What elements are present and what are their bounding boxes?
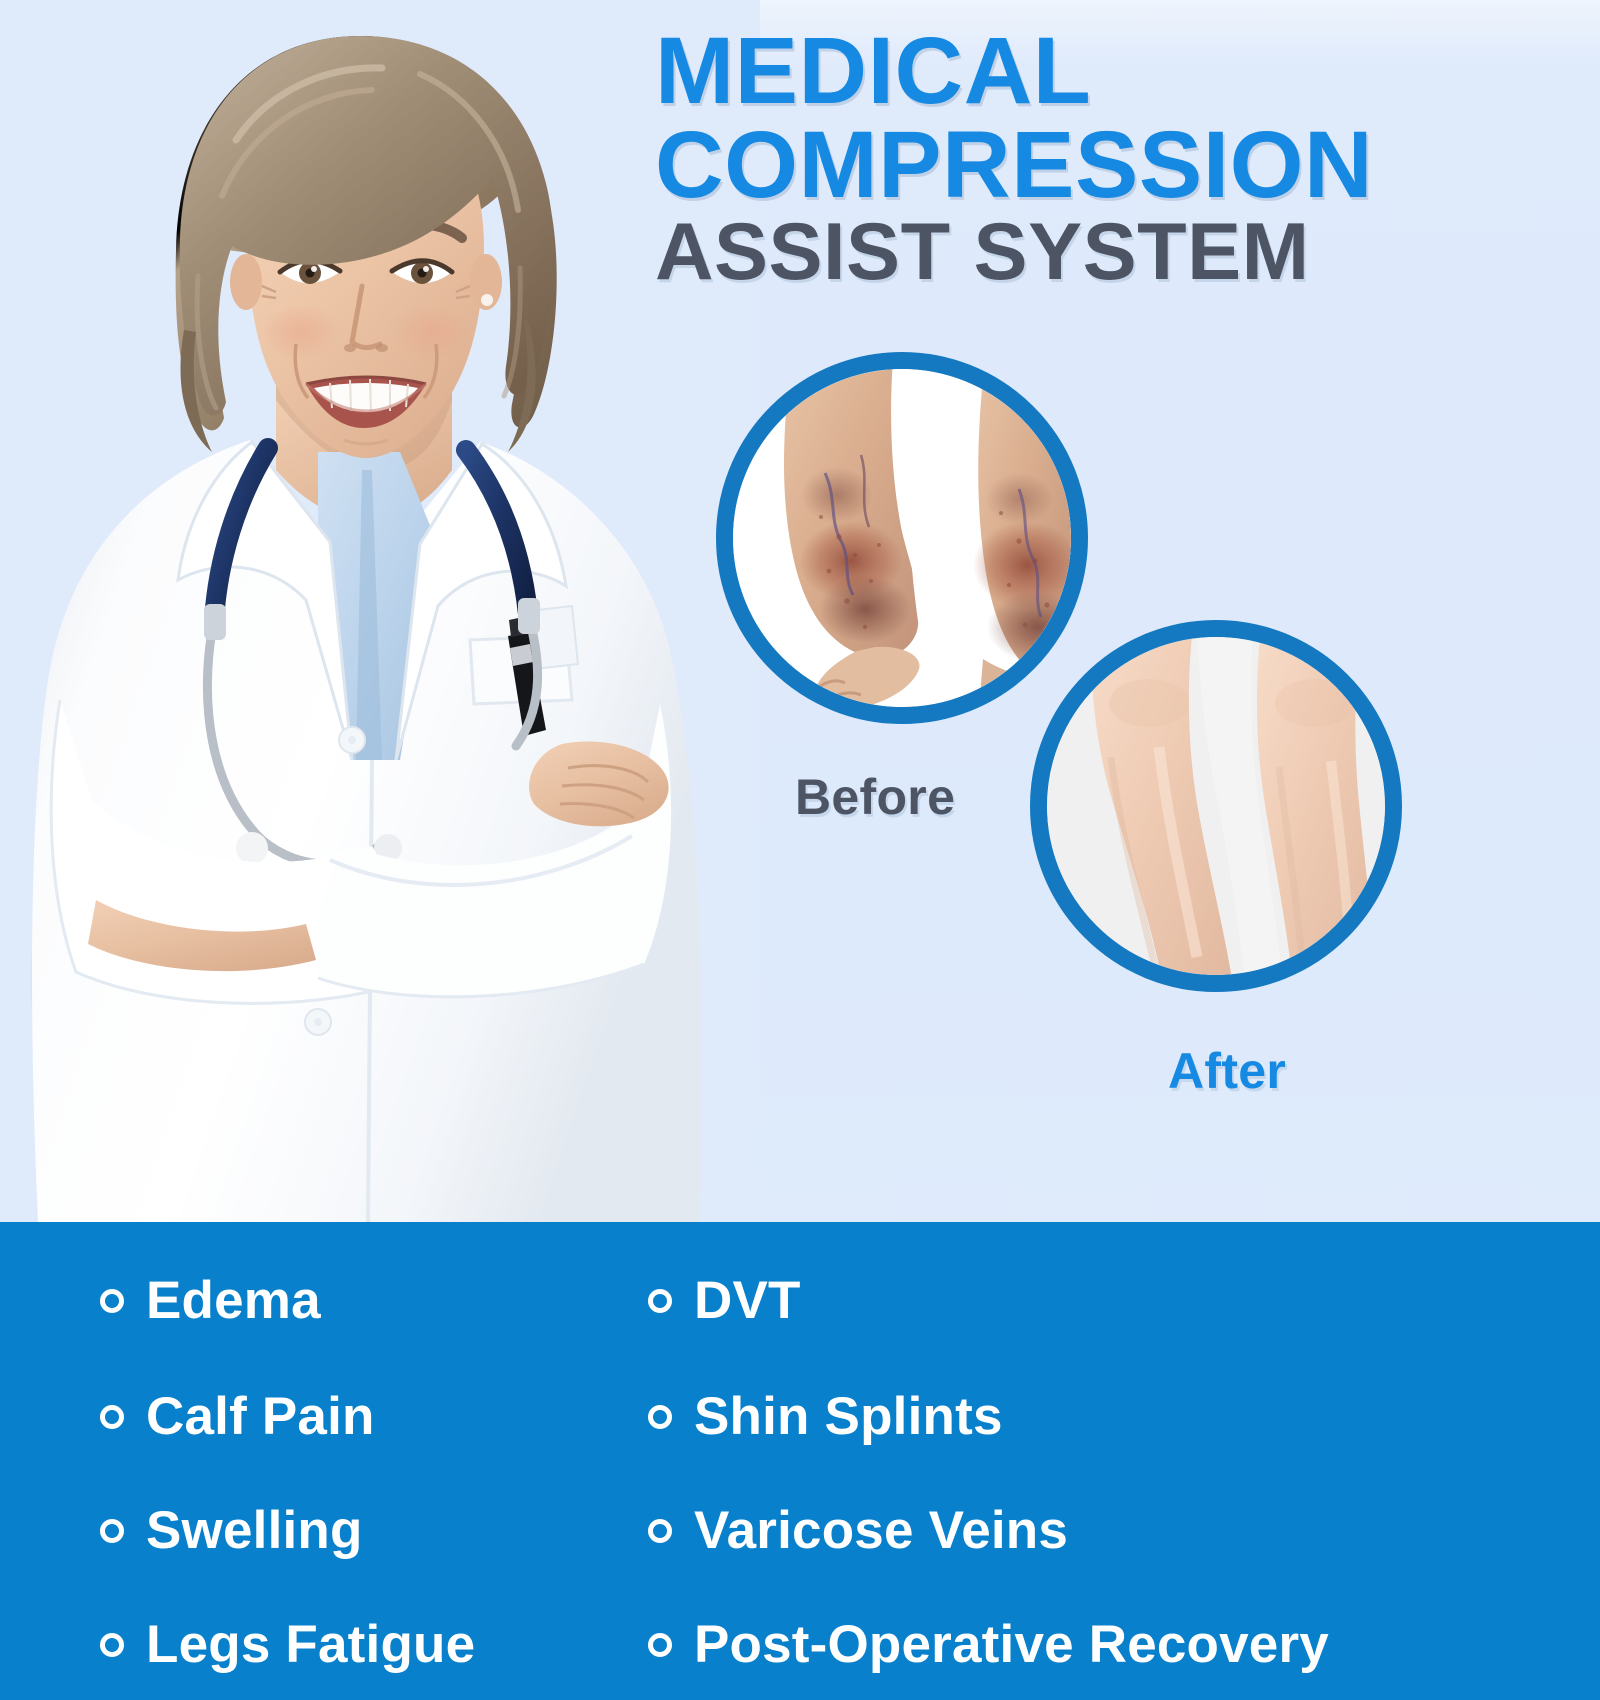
after-label: After bbox=[1168, 1042, 1286, 1100]
before-label: Before bbox=[795, 768, 955, 826]
doctor-hero-image bbox=[0, 0, 760, 1222]
ring-bullet-icon bbox=[648, 1405, 672, 1429]
benefit-label: DVT bbox=[694, 1274, 801, 1327]
benefit-item: Swelling bbox=[100, 1504, 363, 1557]
benefit-item: Post-Operative Recovery bbox=[648, 1618, 1329, 1671]
promo-poster: MEDICAL COMPRESSION ASSIST SYSTEM bbox=[0, 0, 1600, 1700]
headline-line-3: ASSIST SYSTEM bbox=[655, 212, 1585, 292]
benefit-label: Swelling bbox=[146, 1504, 363, 1557]
poster-headline: MEDICAL COMPRESSION ASSIST SYSTEM bbox=[655, 24, 1585, 292]
benefit-item: Edema bbox=[100, 1274, 321, 1327]
benefits-panel: Edema Calf Pain Swelling Legs Fatigue DV… bbox=[0, 1222, 1600, 1700]
after-image-circle bbox=[1030, 620, 1402, 992]
benefit-item: Legs Fatigue bbox=[100, 1618, 475, 1671]
benefit-label: Post-Operative Recovery bbox=[694, 1618, 1329, 1671]
benefit-item: DVT bbox=[648, 1274, 801, 1327]
ring-bullet-icon bbox=[100, 1633, 124, 1657]
headline-line-2: COMPRESSION bbox=[655, 118, 1585, 212]
benefit-item: Calf Pain bbox=[100, 1390, 375, 1443]
benefit-item: Shin Splints bbox=[648, 1390, 1003, 1443]
benefit-label: Shin Splints bbox=[694, 1390, 1003, 1443]
headline-line-1: MEDICAL bbox=[655, 24, 1585, 118]
benefit-label: Legs Fatigue bbox=[146, 1618, 475, 1671]
benefit-label: Varicose Veins bbox=[694, 1504, 1068, 1557]
ring-bullet-icon bbox=[100, 1405, 124, 1429]
ring-bullet-icon bbox=[100, 1519, 124, 1543]
benefit-label: Calf Pain bbox=[146, 1390, 375, 1443]
benefit-item: Varicose Veins bbox=[648, 1504, 1068, 1557]
ring-bullet-icon bbox=[648, 1633, 672, 1657]
benefits-right-column: DVT Shin Splints Varicose Veins Post-Ope… bbox=[648, 1222, 1568, 1700]
benefit-label: Edema bbox=[146, 1274, 321, 1327]
ring-bullet-icon bbox=[100, 1289, 124, 1313]
ring-bullet-icon bbox=[648, 1519, 672, 1543]
ring-bullet-icon bbox=[648, 1289, 672, 1313]
before-image-circle bbox=[716, 352, 1088, 724]
benefits-left-column: Edema Calf Pain Swelling Legs Fatigue bbox=[100, 1222, 660, 1700]
